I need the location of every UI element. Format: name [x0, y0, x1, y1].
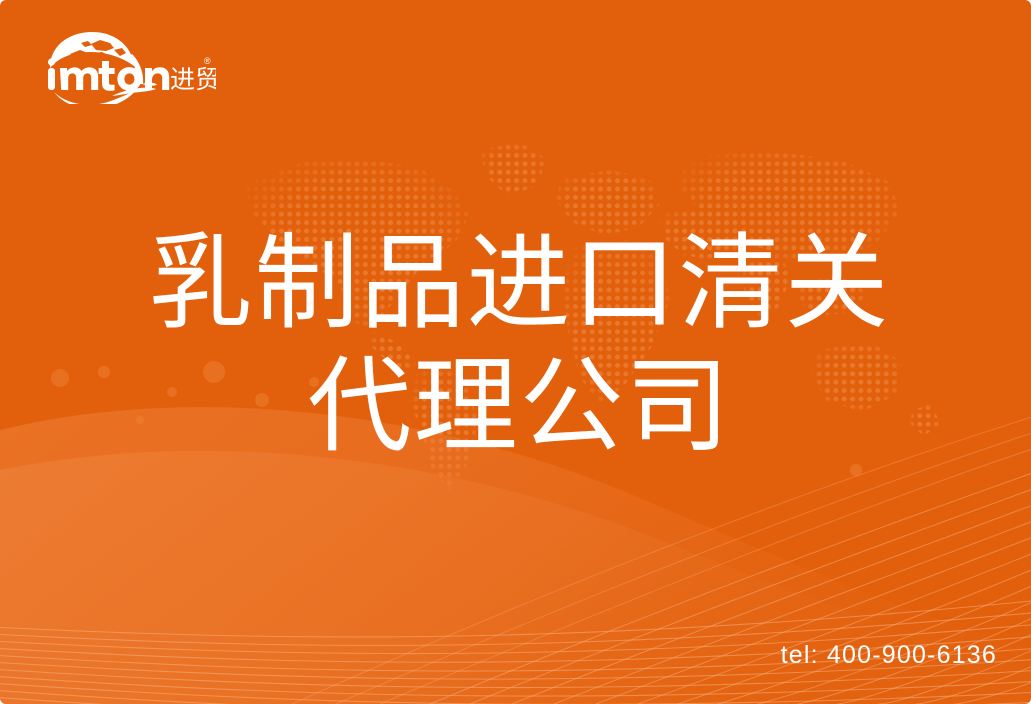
page-title: 乳制品进口清关 代理公司 — [0, 222, 1031, 467]
headline-line-2: 代理公司 — [0, 345, 1031, 468]
promo-banner: 进贸通 ® 乳制品进口清关 代理公司 tel: 400-900-6136 — [0, 0, 1031, 704]
svg-text:进贸通: 进贸通 — [170, 65, 216, 94]
chinese-brand-name: 进贸通 — [170, 65, 216, 94]
trademark-symbol: ® — [204, 56, 211, 66]
contact-phone[interactable]: tel: 400-900-6136 — [781, 641, 997, 670]
brand-logo[interactable]: 进贸通 ® — [36, 26, 216, 104]
headline-line-1: 乳制品进口清关 — [0, 222, 1031, 345]
